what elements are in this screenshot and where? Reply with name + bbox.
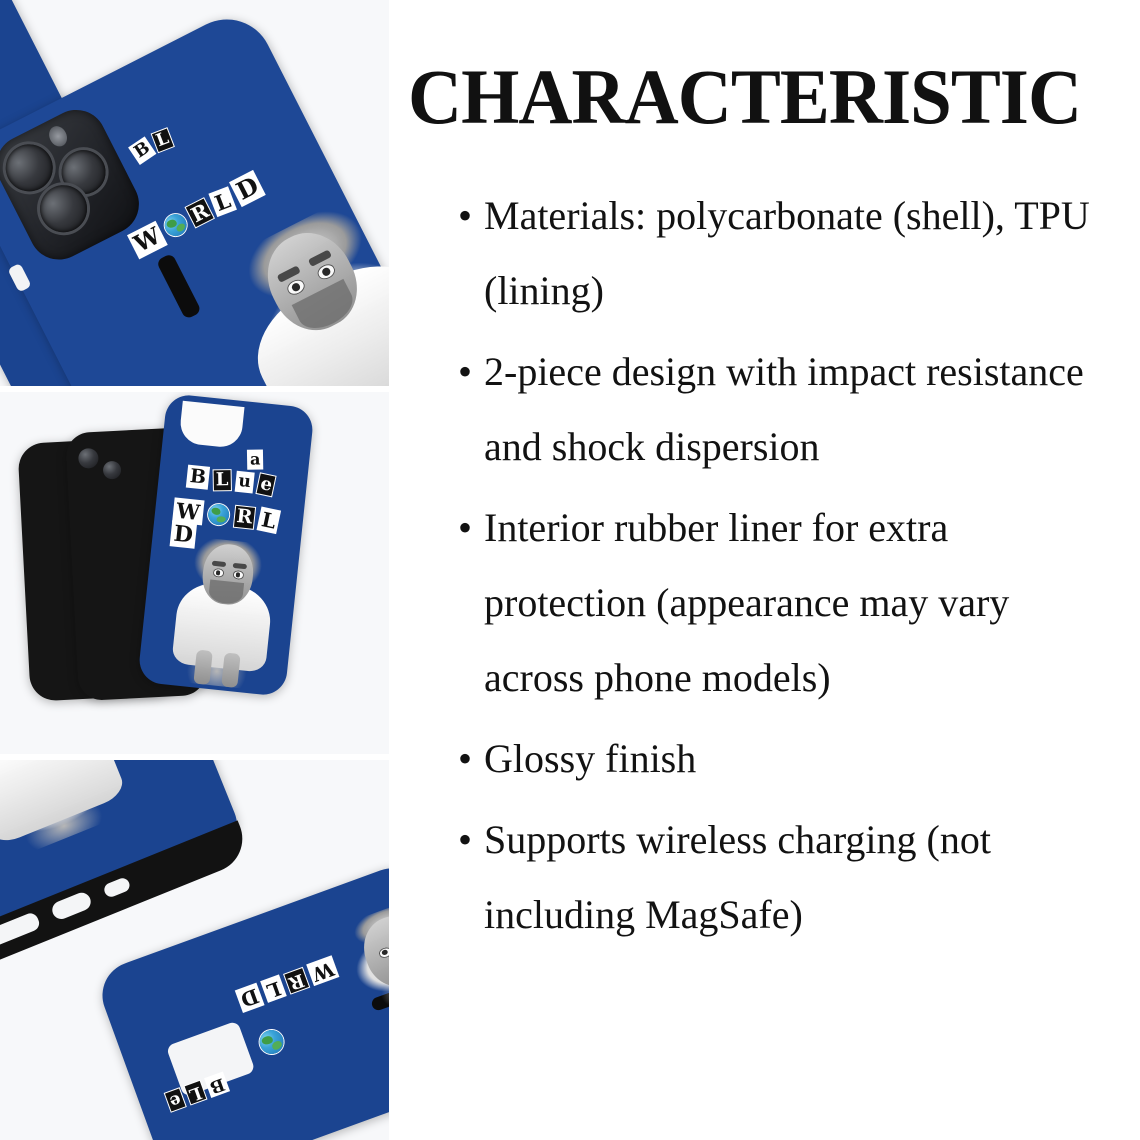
speaker-cutout [50, 890, 94, 922]
letter-L: L [184, 1081, 205, 1104]
list-item-label: Materials: polycarbonate (shell), TPU (l… [484, 193, 1090, 313]
letter-B: B [129, 138, 155, 164]
camera-lens [103, 461, 122, 480]
letter-R: R [186, 198, 214, 227]
globe-icon [207, 503, 230, 526]
letter-L: L [214, 470, 231, 490]
characteristics-list: • Materials: polycarbonate (shell), TPU … [452, 178, 1100, 958]
camera-module-cutout [0, 100, 149, 270]
eye [285, 277, 308, 298]
letter-L: L [152, 128, 174, 151]
notch-cutout [178, 401, 244, 449]
bullet-icon: • [458, 721, 472, 796]
list-item: • Interior rubber liner for extra protec… [452, 490, 1100, 715]
eye [315, 262, 338, 283]
letter-L: L [210, 187, 236, 215]
list-item: • Materials: polycarbonate (shell), TPU … [452, 178, 1100, 328]
list-item: • Supports wireless charging (not includ… [452, 802, 1100, 952]
beard [208, 580, 244, 605]
list-item: • Glossy finish [452, 721, 1100, 796]
letter-e: e [257, 473, 276, 496]
eye [232, 570, 244, 579]
portrait-artwork [160, 535, 287, 692]
wordmark-line-world: W R L D [127, 171, 265, 259]
specifications-column: CHARACTERISTIC • Materials: polycarbonat… [400, 0, 1100, 1140]
globe-icon [256, 1027, 287, 1058]
power-button-cutout [156, 253, 202, 320]
flash-icon [46, 123, 71, 149]
letter-W: W [307, 957, 338, 985]
letter-D: D [231, 171, 265, 205]
blue-phone-case-front: a B L u e W R L D [137, 393, 315, 697]
letter-L: L [262, 976, 285, 1002]
letter-u: u [235, 472, 253, 493]
camera-lens [78, 448, 99, 469]
wordmark-letter-a: a [246, 450, 264, 470]
letter-L: L [258, 507, 280, 532]
page-title: CHARACTERISTIC [408, 58, 1070, 136]
product-listing-image: B L W R L D [0, 0, 1140, 1140]
portrait-artwork [0, 760, 138, 865]
letter-R: R [234, 506, 256, 529]
wordmark-line-blue: B L [129, 128, 175, 164]
port-cutout [0, 911, 41, 949]
bullet-icon: • [458, 178, 472, 253]
gallery-panel-edge-and-liner-view[interactable]: W R L D B L e [0, 760, 389, 1140]
shirt-shape [0, 760, 128, 847]
letter-D: D [236, 984, 264, 1012]
globe-icon [161, 210, 191, 240]
face-shape [355, 907, 389, 994]
eye [377, 946, 389, 960]
bullet-icon: • [458, 334, 472, 409]
list-item-label: Interior rubber liner for extra protecti… [484, 505, 1009, 700]
eyebrow [232, 563, 246, 569]
bullet-icon: • [458, 802, 472, 877]
speaker-cutout [102, 876, 131, 899]
portrait-artwork [330, 892, 389, 1016]
letter-R: R [284, 968, 309, 993]
letter-B: B [187, 466, 209, 489]
gallery-panel-front-and-side-view[interactable]: a B L u e W R L D [0, 392, 389, 754]
arm-shape [193, 650, 212, 685]
letter-e: e [165, 1089, 185, 1112]
gallery-panel-angled-back-view[interactable]: B L W R L D [0, 0, 389, 386]
list-item-label: Glossy finish [484, 736, 696, 781]
wordmark-line-blue: B L u e [186, 466, 276, 496]
phone-case-front-right: B L W R L D [0, 4, 389, 386]
list-item-label: 2-piece design with impact resistance an… [484, 349, 1084, 469]
eyebrow [211, 561, 225, 567]
list-item-label: Supports wireless charging (not includin… [484, 817, 991, 937]
letter-a: a [248, 451, 263, 469]
product-gallery: B L W R L D [0, 0, 389, 1140]
list-item: • 2-piece design with impact resistance … [452, 334, 1100, 484]
letter-W: W [128, 222, 166, 258]
bullet-icon: • [458, 490, 472, 565]
arm-shape [221, 652, 240, 687]
eye [212, 568, 224, 577]
wordmark-line-world-inverted: W R L D [235, 956, 339, 1012]
